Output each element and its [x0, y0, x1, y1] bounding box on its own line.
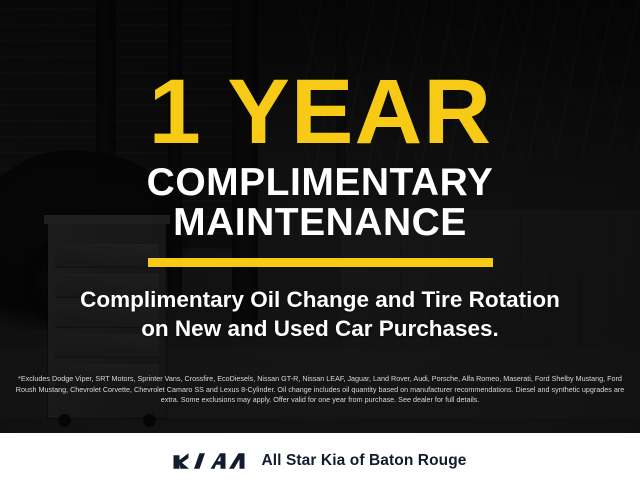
headline-1-year: 1 YEAR [148, 70, 491, 155]
banner-content: 1 YEAR COMPLIMENTARY MAINTENANCE Complim… [0, 0, 640, 488]
disclaimer-text: *Excludes Dodge Viper, SRT Motors, Sprin… [0, 374, 640, 406]
offer-description: Complimentary Oil Change and Tire Rotati… [80, 285, 560, 344]
promotional-banner: 1 YEAR COMPLIMENTARY MAINTENANCE Complim… [0, 0, 640, 488]
dealer-name: All Star Kia of Baton Rouge [261, 452, 466, 470]
subhead-complimentary: COMPLIMENTARY [147, 163, 494, 204]
offer-line-2: on New and Used Car Purchases. [80, 314, 560, 344]
kia-logo-icon [173, 450, 247, 472]
footer-bar: All Star Kia of Baton Rouge [0, 433, 640, 488]
yellow-divider-rule [148, 258, 493, 267]
offer-line-1: Complimentary Oil Change and Tire Rotati… [80, 285, 560, 315]
subhead-maintenance: MAINTENANCE [173, 203, 467, 244]
